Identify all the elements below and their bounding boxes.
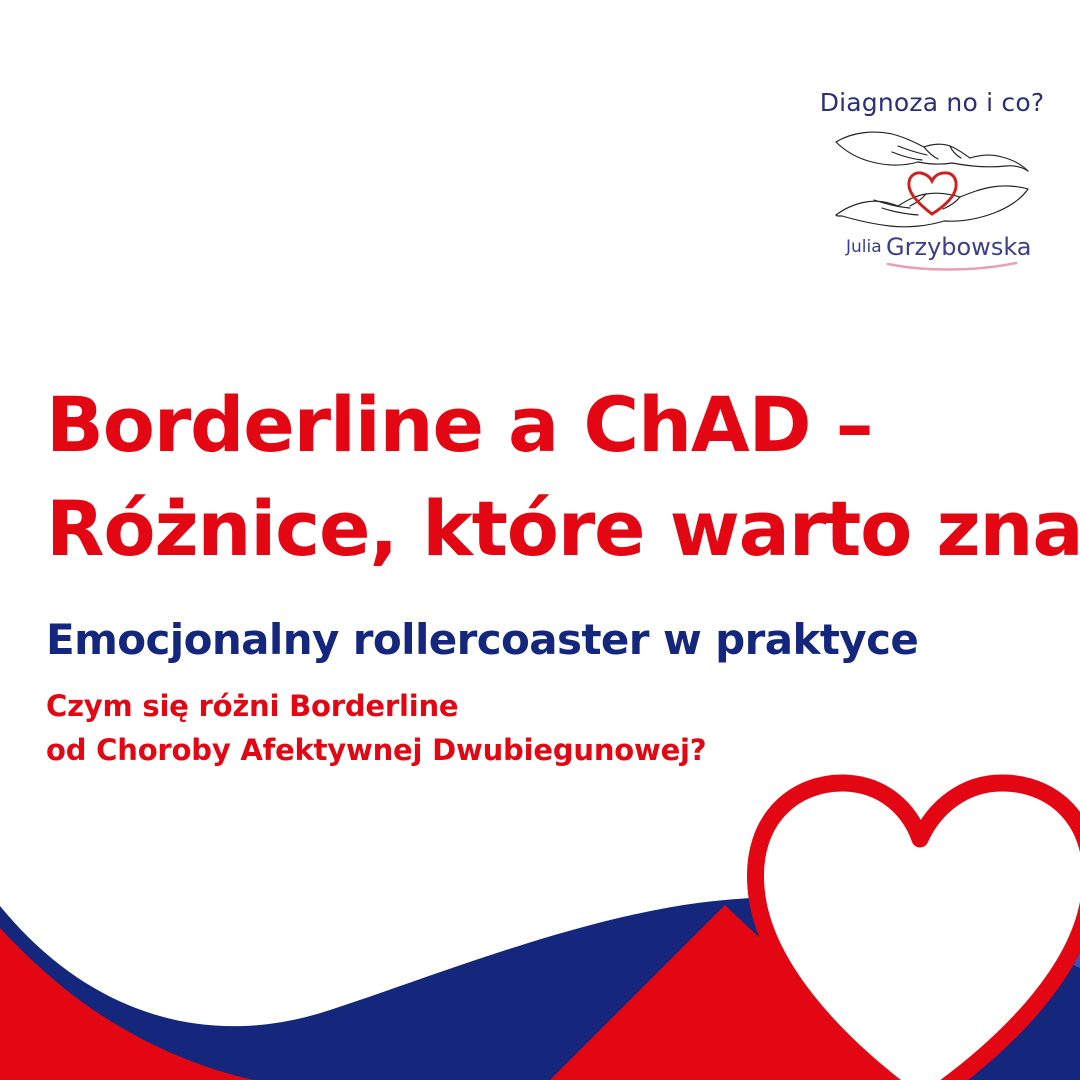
red-lower-left-shape <box>0 928 430 1080</box>
lead-line-2: od Choroby Afektywnej Dwubiegunowej? <box>46 728 946 772</box>
lead-line-1: Czym się różni Borderline <box>46 684 946 728</box>
red-wave-shape <box>0 905 960 1080</box>
poster-canvas: Diagnoza no i co? <box>0 0 1080 1080</box>
brand-logo[interactable]: Diagnoza no i co? <box>812 88 1052 268</box>
signature-first-name: Julia <box>845 237 882 257</box>
headline-line-1: Borderline a ChAD – <box>46 373 1076 477</box>
lead-question: Czym się różni Borderline od Choroby Afe… <box>46 684 946 772</box>
logo-tagline: Diagnoza no i co? <box>812 88 1052 117</box>
logo-signature: Julia Grzybowska <box>812 228 1052 272</box>
large-heart-outline-shape <box>755 783 1080 1080</box>
signature-last-name: Grzybowska <box>886 233 1032 261</box>
hands-holding-heart-icon <box>828 128 1036 232</box>
subtitle: Emocjonalny rollercoaster w praktyce <box>46 615 1046 664</box>
royal-blue-wedge-shape <box>360 888 1080 1080</box>
navy-wave-shape <box>0 898 1080 1080</box>
signature-swoosh <box>888 263 1016 270</box>
red-bottom-right-edge-shape <box>880 906 1080 1080</box>
headline-line-2: Różnice, które warto znać <box>46 477 1076 581</box>
page-title: Borderline a ChAD – Różnice, które warto… <box>46 373 1076 581</box>
